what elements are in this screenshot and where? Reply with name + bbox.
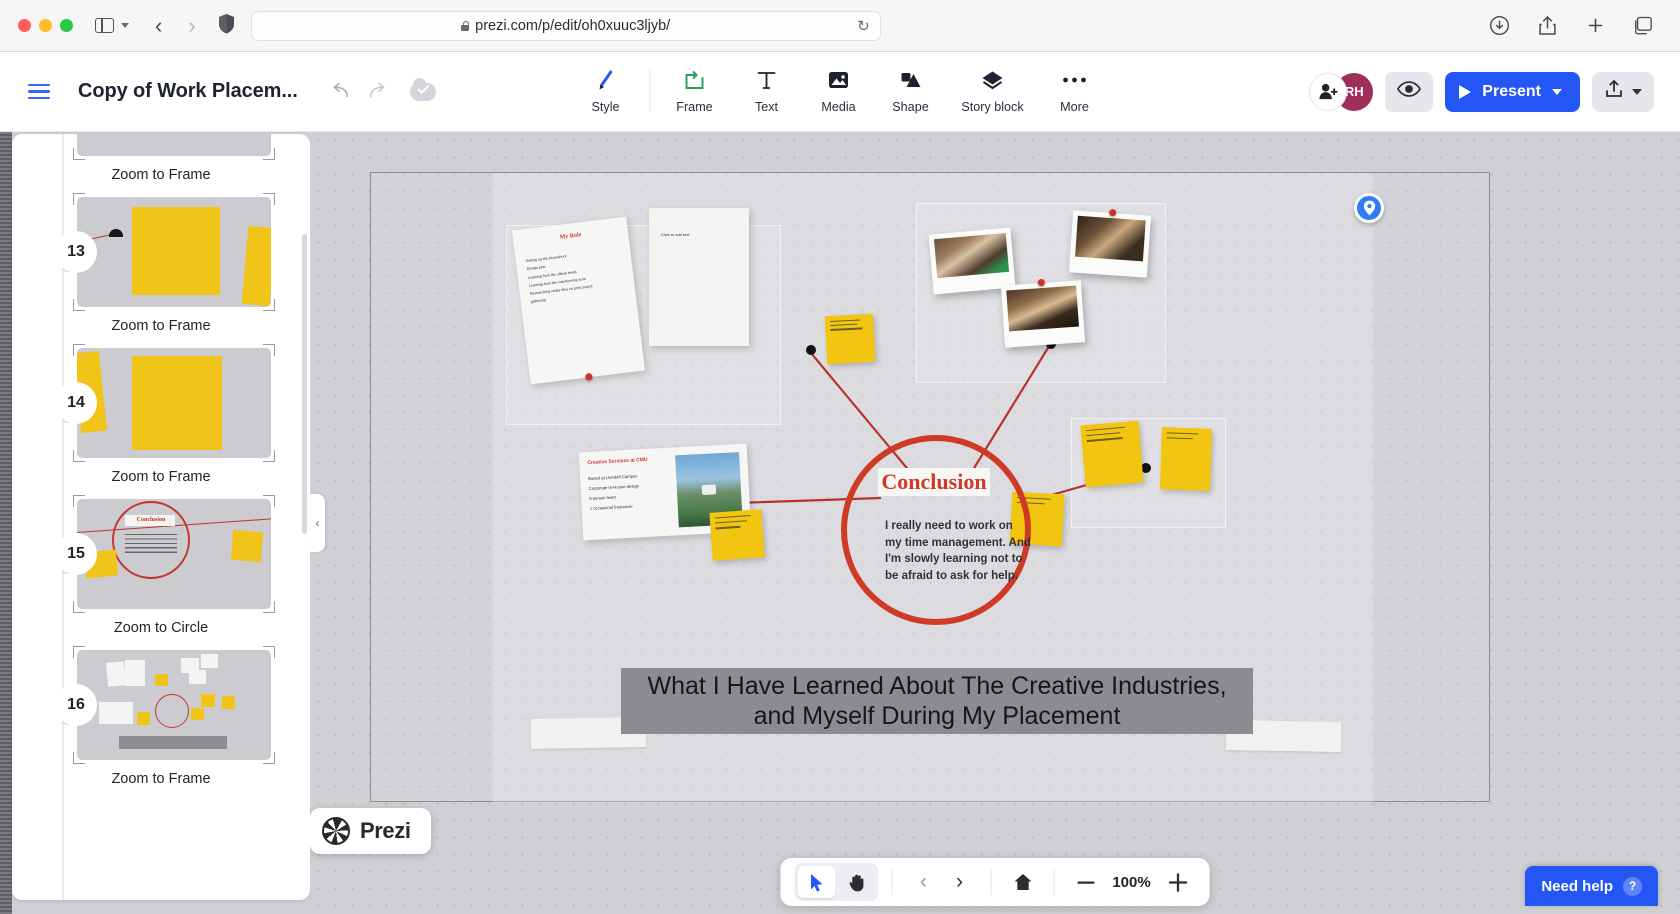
frame-corner	[263, 646, 275, 658]
document-title[interactable]: Copy of Work Placem...	[78, 80, 298, 103]
need-help-label: Need help	[1541, 878, 1613, 895]
redo-icon[interactable]	[368, 81, 390, 103]
preview-button[interactable]	[1385, 72, 1433, 112]
frame-corner	[73, 646, 85, 658]
thumbnail-frame[interactable]: Conclusion 15	[77, 499, 271, 609]
cloud-saved-icon	[410, 83, 436, 101]
tab-overview-icon[interactable]	[1630, 13, 1656, 39]
next-step-button[interactable]: ›	[942, 866, 978, 898]
left-edge-rail	[0, 132, 12, 914]
photo-image	[1006, 286, 1079, 332]
tool-style[interactable]: Style	[570, 67, 642, 116]
prezi-watermark-badge[interactable]: Prezi	[310, 808, 431, 854]
chevron-down-icon[interactable]	[1552, 89, 1562, 95]
home-icon[interactable]	[1005, 866, 1041, 898]
frame-corner	[73, 193, 85, 205]
tool-media[interactable]: Media	[803, 67, 875, 116]
tool-text[interactable]: Text	[731, 67, 803, 116]
sticky-note[interactable]	[1080, 421, 1143, 488]
thumbnail-label: Zoom to Frame	[30, 318, 292, 334]
close-window-button[interactable]	[18, 19, 31, 32]
tool-media-label: Media	[821, 100, 855, 114]
location-pin-icon[interactable]	[1354, 193, 1384, 223]
thumbnail-frame[interactable]: 14	[77, 348, 271, 458]
banner-title-line1: What I Have Learned About The Creative I…	[647, 671, 1226, 702]
more-dots-icon	[1062, 67, 1088, 93]
tool-story-block[interactable]: Story block	[947, 67, 1039, 116]
frame-corner	[263, 299, 275, 311]
frame-corner	[73, 148, 85, 160]
cursor-arrow-icon[interactable]	[798, 866, 836, 898]
push-pin-icon	[1109, 209, 1116, 216]
canvas-mode-group[interactable]	[795, 863, 879, 901]
thumbnail-frame[interactable]: 13	[77, 197, 271, 307]
sticky-note-text	[1162, 427, 1213, 445]
empty-card-placeholder: Click to add text	[661, 232, 737, 237]
my-role-body: Setting up the photoshoot Design jobs Le…	[525, 246, 625, 307]
sidebar-collapse-button[interactable]: ‹	[310, 494, 325, 552]
thumbnail-label: Zoom to Frame	[30, 469, 292, 485]
media-image-icon	[827, 67, 851, 93]
frame-corner	[73, 601, 85, 613]
present-label: Present	[1482, 83, 1541, 101]
chevron-down-icon[interactable]	[121, 23, 129, 28]
workspace: Zoom to Frame 13	[0, 132, 1680, 914]
tool-frame[interactable]: Frame	[659, 67, 731, 116]
question-mark-icon: ?	[1623, 877, 1642, 896]
privacy-shield-icon[interactable]	[218, 13, 235, 39]
frame-corner	[73, 344, 85, 356]
connector-node[interactable]	[806, 345, 816, 355]
reload-icon[interactable]: ↻	[857, 17, 870, 35]
prezi-watermark-label: Prezi	[360, 818, 411, 844]
toolbar-divider	[1054, 869, 1055, 895]
sidebar-toggle-icon[interactable]	[95, 18, 114, 33]
conclusion-title-band[interactable]: Conclusion	[878, 468, 990, 496]
thumbnail-number: 14	[55, 382, 97, 424]
frame-corner	[263, 450, 275, 462]
minimize-window-button[interactable]	[39, 19, 52, 32]
my-role-card[interactable]: My Role Setting up the photoshoot Design…	[512, 217, 645, 385]
new-tab-plus-icon[interactable]	[1582, 13, 1608, 39]
creative-services-title: Creative Services at CMU	[587, 456, 669, 466]
need-help-button[interactable]: Need help ?	[1525, 866, 1658, 906]
tool-shape-label: Shape	[892, 100, 928, 114]
frame-corner	[73, 299, 85, 311]
eye-preview-icon	[1397, 81, 1421, 102]
frame-corner	[73, 752, 85, 764]
my-role-title: My Role	[523, 228, 618, 246]
undo-icon[interactable]	[328, 81, 350, 103]
hand-pan-icon[interactable]	[838, 866, 876, 898]
creative-services-body: Based at Llandaff Campus Corporate In-Ho…	[588, 470, 672, 515]
text-icon	[756, 67, 778, 93]
thumbnail-number: 16	[55, 684, 97, 726]
list-item[interactable]: Conclusion 15 Zoom to Circle	[30, 499, 292, 636]
thumbnail-image: Conclusion	[77, 499, 271, 609]
slide-title-banner[interactable]: What I Have Learned About The Creative I…	[621, 668, 1253, 734]
play-icon	[1459, 85, 1471, 99]
frame-corner	[263, 193, 275, 205]
thumbnail-label: Zoom to Frame	[30, 771, 292, 787]
list-item[interactable]: 13 Zoom to Frame	[30, 197, 292, 334]
photo-image	[1075, 216, 1146, 262]
forward-arrow-icon[interactable]: ›	[188, 15, 195, 37]
chevron-down-icon[interactable]	[1632, 89, 1642, 95]
prezi-logo-icon	[322, 817, 350, 845]
sticky-note[interactable]	[709, 509, 764, 561]
tool-text-label: Text	[755, 100, 778, 114]
download-icon[interactable]	[1486, 13, 1512, 39]
photo-polaroid[interactable]	[929, 228, 1016, 295]
share-export-button[interactable]	[1592, 72, 1654, 112]
sticky-note-text	[709, 509, 762, 534]
empty-text-card[interactable]: Click to add text	[649, 208, 749, 346]
lock-icon	[461, 21, 469, 31]
push-pin-icon	[1038, 279, 1045, 286]
zoom-out-button[interactable]	[1068, 866, 1104, 898]
conclusion-body: I really need to work on my time managem…	[885, 518, 1031, 585]
thumbnail-image	[77, 650, 271, 760]
tool-more-label: More	[1060, 100, 1089, 114]
list-item[interactable]: 14 Zoom to Frame	[30, 348, 292, 485]
slides-sidebar[interactable]: Zoom to Frame 13	[12, 134, 310, 900]
url-text: prezi.com/p/edit/oh0xuuc3ljyb/	[475, 18, 670, 34]
add-person-icon[interactable]	[1309, 73, 1347, 111]
frame-corner	[73, 450, 85, 462]
canvas-bottom-toolbar: ‹ › 100%	[781, 858, 1210, 906]
thumbnail-image	[77, 348, 271, 458]
frame-icon	[683, 67, 707, 93]
thumbnail-label: Zoom to Circle	[30, 620, 292, 636]
prev-step-button[interactable]: ‹	[906, 866, 942, 898]
creation-tools: Style Frame Text Media Shape	[570, 67, 1111, 116]
tool-shape[interactable]: Shape	[875, 67, 947, 116]
brush-icon	[595, 67, 617, 93]
sticky-note[interactable]	[1160, 427, 1212, 491]
frame-corner	[263, 495, 275, 507]
story-block-icon	[981, 67, 1005, 93]
thumbnail-image	[77, 134, 271, 156]
list-item[interactable]: 16 Zoom to Frame	[30, 650, 292, 787]
frame-corner	[73, 495, 85, 507]
list-item[interactable]: Zoom to Frame	[30, 134, 292, 183]
collaborators[interactable]: RH	[1309, 73, 1373, 111]
upload-share-icon	[1604, 79, 1624, 104]
frame-corner	[263, 148, 275, 160]
sticky-note[interactable]	[825, 314, 875, 364]
frame-corner	[263, 752, 275, 764]
tool-more[interactable]: More	[1039, 67, 1111, 116]
zoom-in-button[interactable]	[1160, 866, 1196, 898]
thumbnail-label: Zoom to Frame	[30, 167, 292, 183]
present-button[interactable]: Present	[1445, 72, 1580, 112]
hamburger-menu-icon[interactable]	[28, 84, 50, 100]
photo-polaroid[interactable]	[1069, 210, 1151, 277]
maximize-window-button[interactable]	[60, 19, 73, 32]
frame-corner	[263, 344, 275, 356]
tool-style-label: Style	[592, 100, 620, 114]
toolbar-divider	[991, 869, 992, 895]
toolbar-divider	[650, 70, 651, 112]
browser-toolbar: ‹ › prezi.com/p/edit/oh0xuuc3ljyb/ ↻	[0, 0, 1680, 52]
conclusion-title: Conclusion	[881, 469, 986, 495]
sidebar-toggle-group[interactable]	[95, 18, 129, 33]
toolbar-divider	[892, 869, 893, 895]
slide-outer-frame[interactable]: My Role Setting up the photoshoot Design…	[370, 172, 1490, 802]
thumbnail-frame[interactable]	[77, 134, 271, 156]
frame-corner	[263, 601, 275, 613]
share-icon[interactable]	[1534, 13, 1560, 39]
banner-title-line2: and Myself During My Placement	[754, 701, 1121, 732]
sticky-note-text	[1080, 421, 1140, 448]
photo-image	[934, 233, 1009, 278]
sidebar-scrollbar[interactable]	[302, 234, 307, 534]
back-arrow-icon[interactable]: ‹	[155, 15, 162, 37]
tool-story-block-label: Story block	[961, 100, 1023, 114]
thumbnail-frame[interactable]: 16	[77, 650, 271, 760]
tool-frame-label: Frame	[676, 100, 712, 114]
editor-canvas[interactable]: My Role Setting up the photoshoot Design…	[310, 132, 1680, 914]
window-traffic-lights[interactable]	[18, 19, 73, 32]
zoom-level: 100%	[1104, 874, 1160, 891]
prezi-app-toolbar: Copy of Work Placem... Style Frame	[0, 52, 1680, 132]
thumbnail-image	[77, 197, 271, 307]
sticky-note-text	[825, 314, 874, 336]
address-bar[interactable]: prezi.com/p/edit/oh0xuuc3ljyb/ ↻	[251, 11, 881, 41]
photo-polaroid[interactable]	[1001, 280, 1085, 347]
thumbnail-number: 13	[55, 231, 97, 273]
thumbnail-number: 15	[55, 533, 97, 575]
shape-icon	[899, 67, 923, 93]
